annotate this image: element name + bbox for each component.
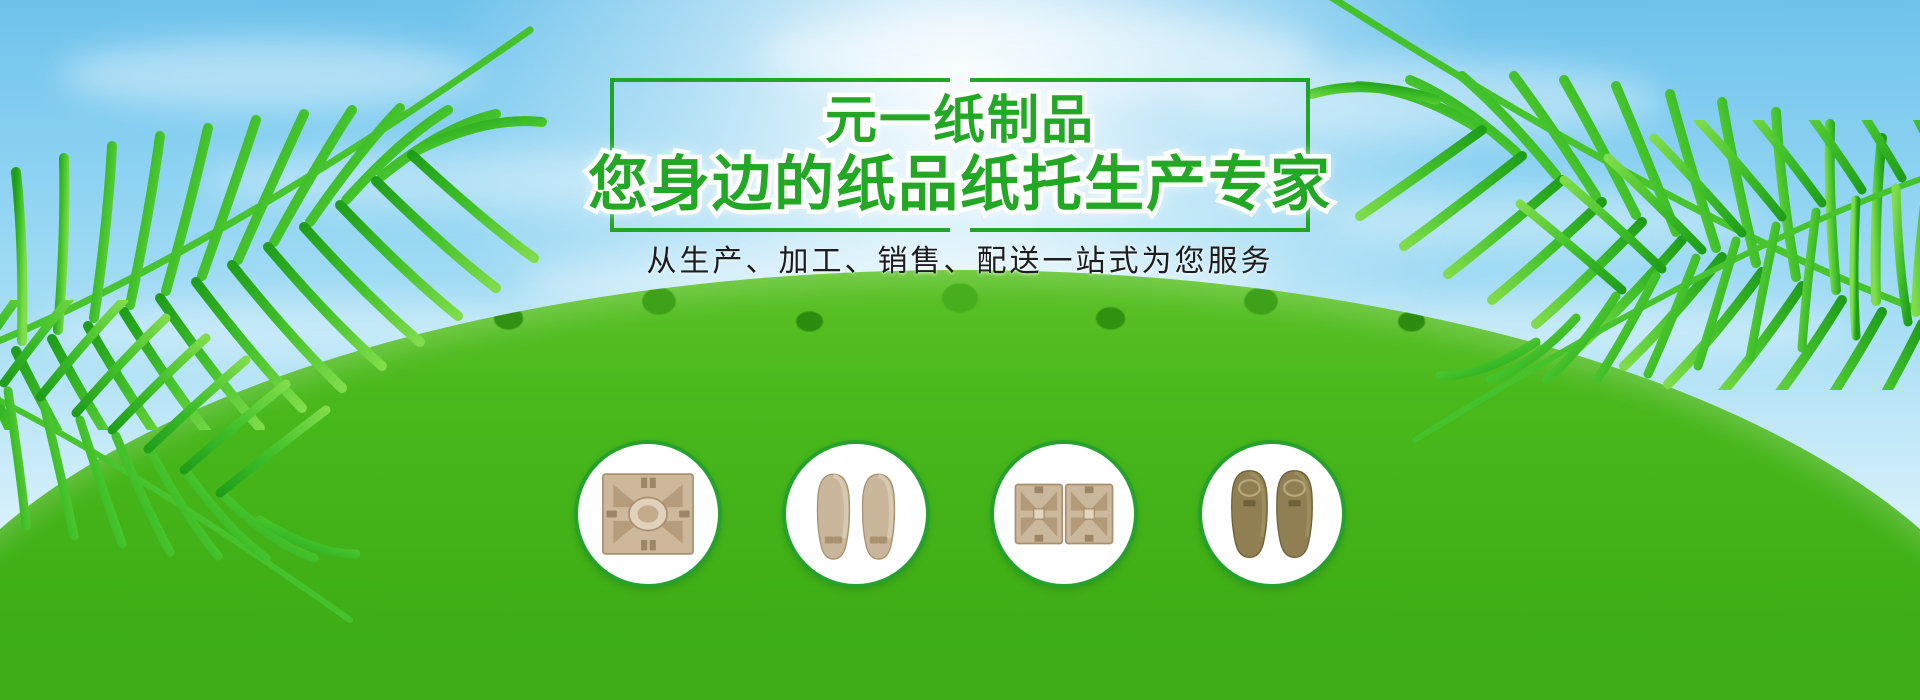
product-circle-molded-pulp-corner-pair[interactable]: [990, 440, 1138, 588]
product-circle-molded-pulp-shoe-tree-pair[interactable]: [782, 440, 930, 588]
product-circle-molded-pulp-insole-pair[interactable]: [1198, 440, 1346, 588]
molded-pulp-square-tray-icon: [596, 462, 700, 566]
product-circle-molded-pulp-square-tray[interactable]: [574, 440, 722, 588]
headline-line-1: 元一纸制品: [825, 94, 1095, 149]
headline-frame: 元一纸制品 您身边的纸品纸托生产专家: [610, 78, 1310, 232]
product-circle-row: [0, 440, 1920, 588]
molded-pulp-insole-pair-icon: [1220, 462, 1324, 566]
headline-block: 元一纸制品 您身边的纸品纸托生产专家: [0, 78, 1920, 232]
headline-line-2: 您身边的纸品纸托生产专家: [588, 151, 1332, 218]
banner-alt-text: 元一纸制品企业宣传横幅: [0, 0, 1, 1]
banner-subtitle: 从生产、加工、销售、配送一站式为您服务: [0, 236, 1920, 280]
molded-pulp-shoe-tree-pair-icon: [804, 462, 908, 566]
molded-pulp-corner-pair-icon: [1012, 462, 1116, 566]
promo-banner: 元一纸制品 您身边的纸品纸托生产专家 从生产、加工、销售、配送一站式为您服务: [0, 0, 1920, 700]
